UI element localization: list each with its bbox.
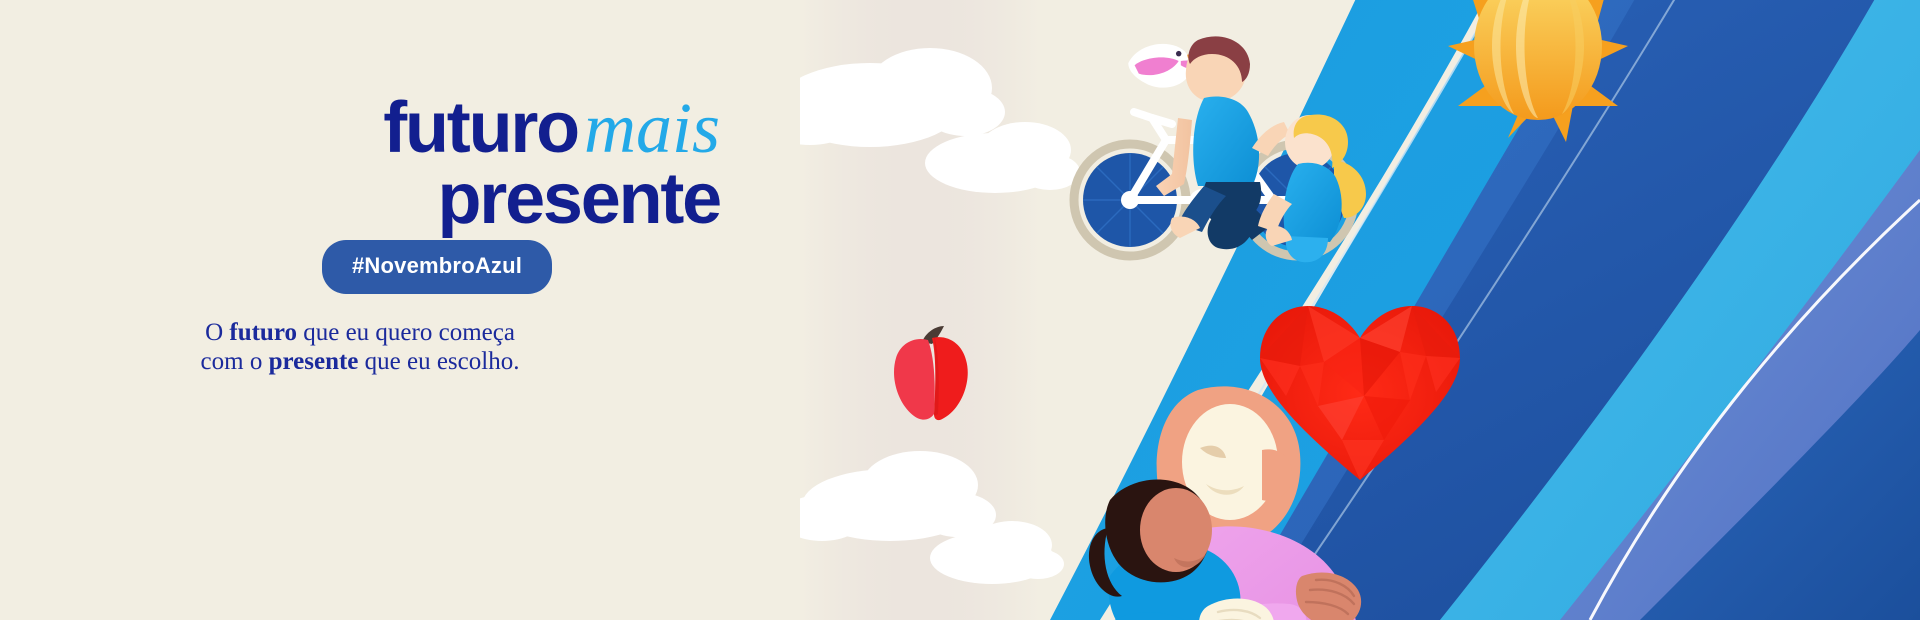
tagline-l1-bold: futuro <box>229 319 297 346</box>
headline-word-futuro: futuro <box>383 88 578 168</box>
tagline: O futuro que eu quero começa com o prese… <box>0 318 720 377</box>
headline-line-2: presente <box>0 166 720 233</box>
headline-word-mais: mais <box>584 88 720 168</box>
tagline-line-2: com o presente que eu escolho. <box>0 347 720 376</box>
tagline-l1-prefix: O <box>205 319 229 346</box>
copy-block: futuromais presente #NovembroAzul O futu… <box>0 0 900 620</box>
hashtag-button[interactable]: #NovembroAzul <box>322 240 552 294</box>
tagline-l2-prefix: com o <box>201 348 269 375</box>
headline: futuromais presente <box>0 95 720 233</box>
tagline-line-1: O futuro que eu quero começa <box>0 318 720 347</box>
illustration-artwork <box>800 0 1920 620</box>
headline-line-1: futuromais <box>0 95 720 162</box>
tagline-l1-suffix: que eu quero começa <box>297 319 515 346</box>
tagline-l2-suffix: que eu escolho. <box>358 348 519 375</box>
campaign-banner: futuromais presente #NovembroAzul O futu… <box>0 0 1920 620</box>
headline-word-presente: presente <box>437 159 720 239</box>
tagline-l2-bold: presente <box>269 348 359 375</box>
